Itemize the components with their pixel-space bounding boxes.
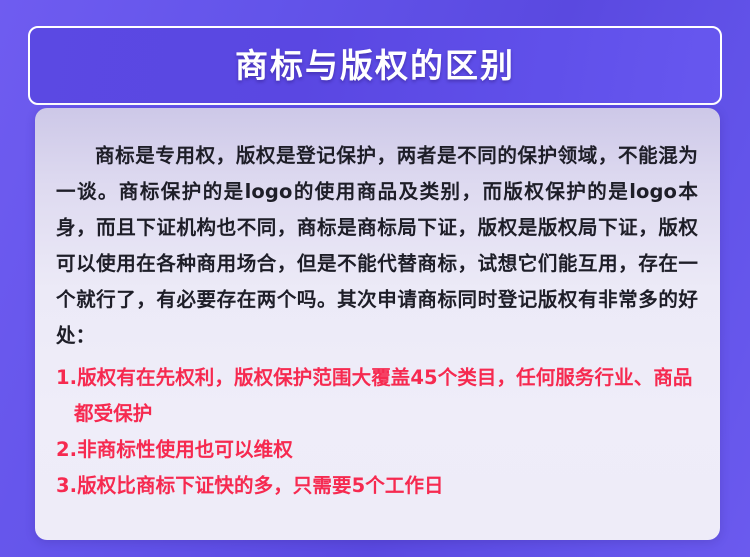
page-title: 商标与版权的区别 [235, 49, 515, 82]
list-item-label: 版权有在先权利，版权保护范围大覆盖45个类目，任何服务行业、商品都受保护 [74, 366, 693, 425]
header-banner: 商标与版权的区别 [28, 26, 722, 105]
list-item-number: 1. [56, 366, 77, 389]
list-item-number: 2. [56, 438, 77, 461]
list-item: 3.版权比商标下证快的多，只需要5个工作日 [56, 468, 698, 504]
list-item-label: 版权比商标下证快的多，只需要5个工作日 [77, 474, 443, 497]
list-item: 1.版权有在先权利，版权保护范围大覆盖45个类目，任何服务行业、商品都受保护 [56, 360, 698, 432]
poster-canvas: 商标与版权的区别 商标是专用权，版权是登记保护，两者是不同的保护领域，不能混为一… [0, 0, 750, 557]
benefits-list: 1.版权有在先权利，版权保护范围大覆盖45个类目，任何服务行业、商品都受保护 2… [56, 360, 698, 504]
list-item-label: 非商标性使用也可以维权 [77, 438, 293, 461]
list-item-number: 3. [56, 474, 77, 497]
list-item: 2.非商标性使用也可以维权 [56, 432, 698, 468]
intro-paragraph: 商标是专用权，版权是登记保护，两者是不同的保护领域，不能混为一谈。商标保护的是l… [56, 138, 698, 354]
content-panel: 商标是专用权，版权是登记保护，两者是不同的保护领域，不能混为一谈。商标保护的是l… [35, 108, 720, 540]
content-body: 商标是专用权，版权是登记保护，两者是不同的保护领域，不能混为一谈。商标保护的是l… [35, 108, 720, 504]
